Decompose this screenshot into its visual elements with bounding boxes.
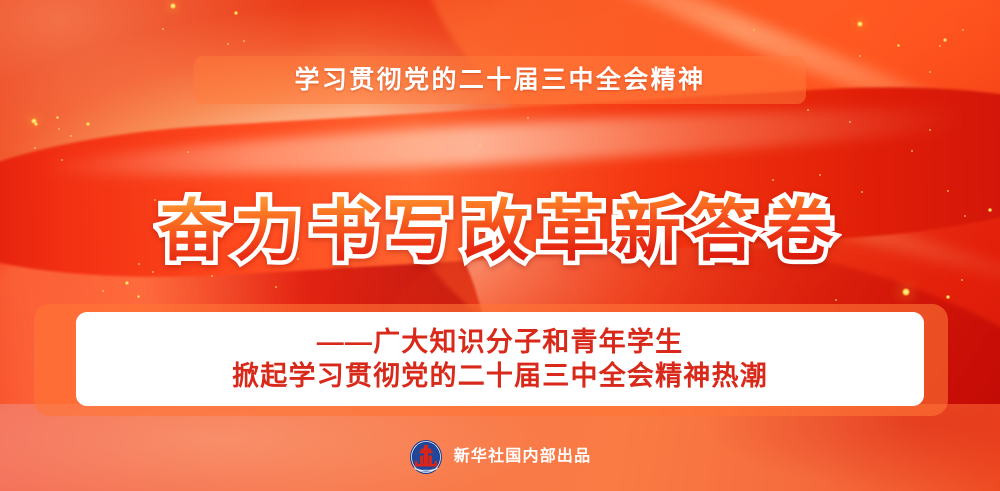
headline-stack: 奋力书写改革新答卷 奋力书写改革新答卷 [158, 196, 842, 268]
footer-credit: 新华社国内部出品 [0, 439, 1000, 475]
subtitle-line-2: 掀起学习贯彻党的二十届三中全会精神热潮 [232, 361, 768, 391]
subtitle-line-1: ——广大知识分子和青年学生 [317, 327, 684, 357]
headline: 奋力书写改革新答卷 奋力书写改革新答卷 [0, 196, 1000, 268]
poster-canvas: 学习贯彻党的二十届三中全会精神 奋力书写改革新答卷 奋力书写改革新答卷 ——广大… [0, 0, 1000, 491]
headline-fill-layer: 奋力书写改革新答卷 [158, 196, 842, 268]
campaign-banner-text: 学习贯彻党的二十届三中全会精神 [294, 68, 705, 93]
campaign-banner: 学习贯彻党的二十届三中全会精神 [194, 56, 806, 104]
xinhua-news-agency-logo-icon [409, 439, 443, 475]
footer-credit-text: 新华社国内部出品 [454, 449, 592, 465]
subtitle-card: ——广大知识分子和青年学生 掀起学习贯彻党的二十届三中全会精神热潮 [76, 312, 924, 406]
